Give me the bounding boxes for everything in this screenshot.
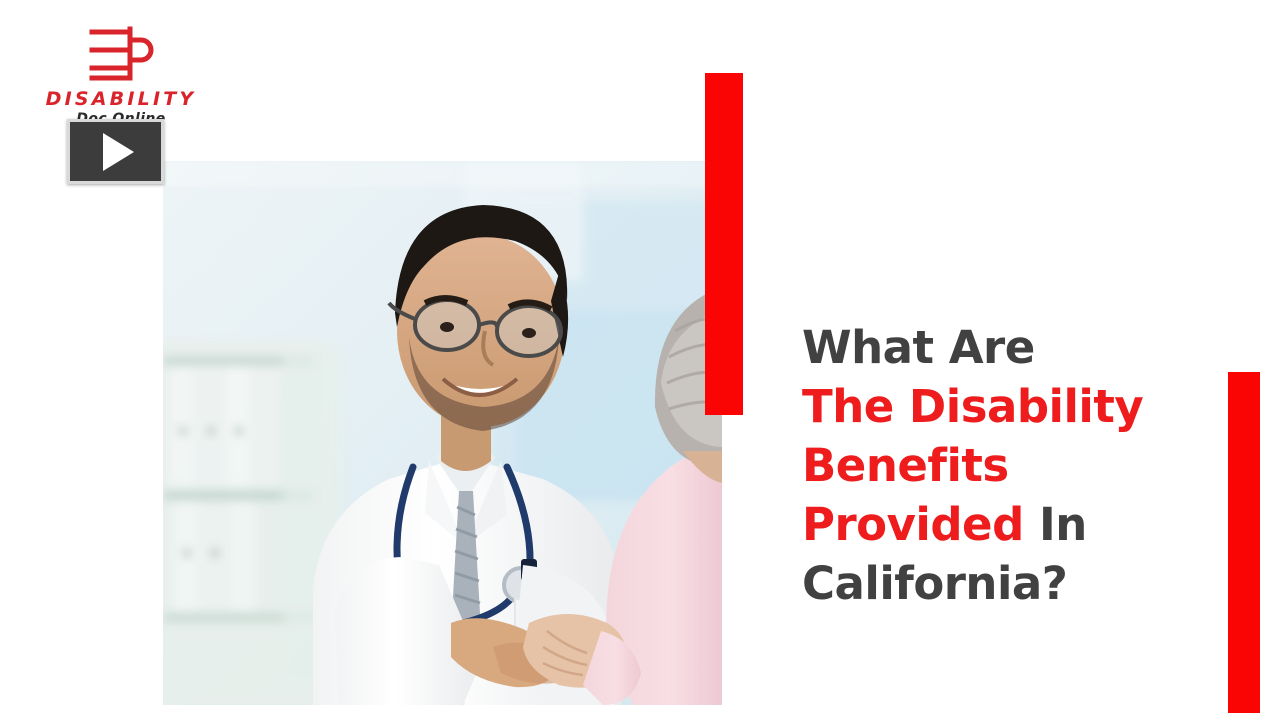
headline-line-4: Provided In — [802, 495, 1222, 554]
disability-doc-cup-mark-icon — [88, 26, 154, 84]
brand-name: DISABILITY — [46, 90, 197, 109]
accent-bar-right — [1228, 372, 1260, 713]
play-triangle-icon — [103, 133, 134, 171]
headline-line-5: California? — [802, 554, 1222, 613]
headline-line-1: What Are — [802, 318, 1222, 377]
page-title: What Are The Disability Benefits Provide… — [802, 318, 1222, 613]
headline-line-3: Benefits — [802, 436, 1222, 495]
video-play-overlay[interactable] — [67, 119, 164, 184]
headline-line-4-red: Provided — [802, 498, 1024, 551]
doctor-patient-photo — [163, 161, 722, 705]
headline-line-2: The Disability — [802, 377, 1222, 436]
accent-bar-left — [705, 73, 743, 415]
headline-line-4-dark: In — [1024, 498, 1087, 551]
slide-canvas: DISABILITY Doc Online — [0, 0, 1280, 720]
photo-illustration — [163, 161, 722, 705]
